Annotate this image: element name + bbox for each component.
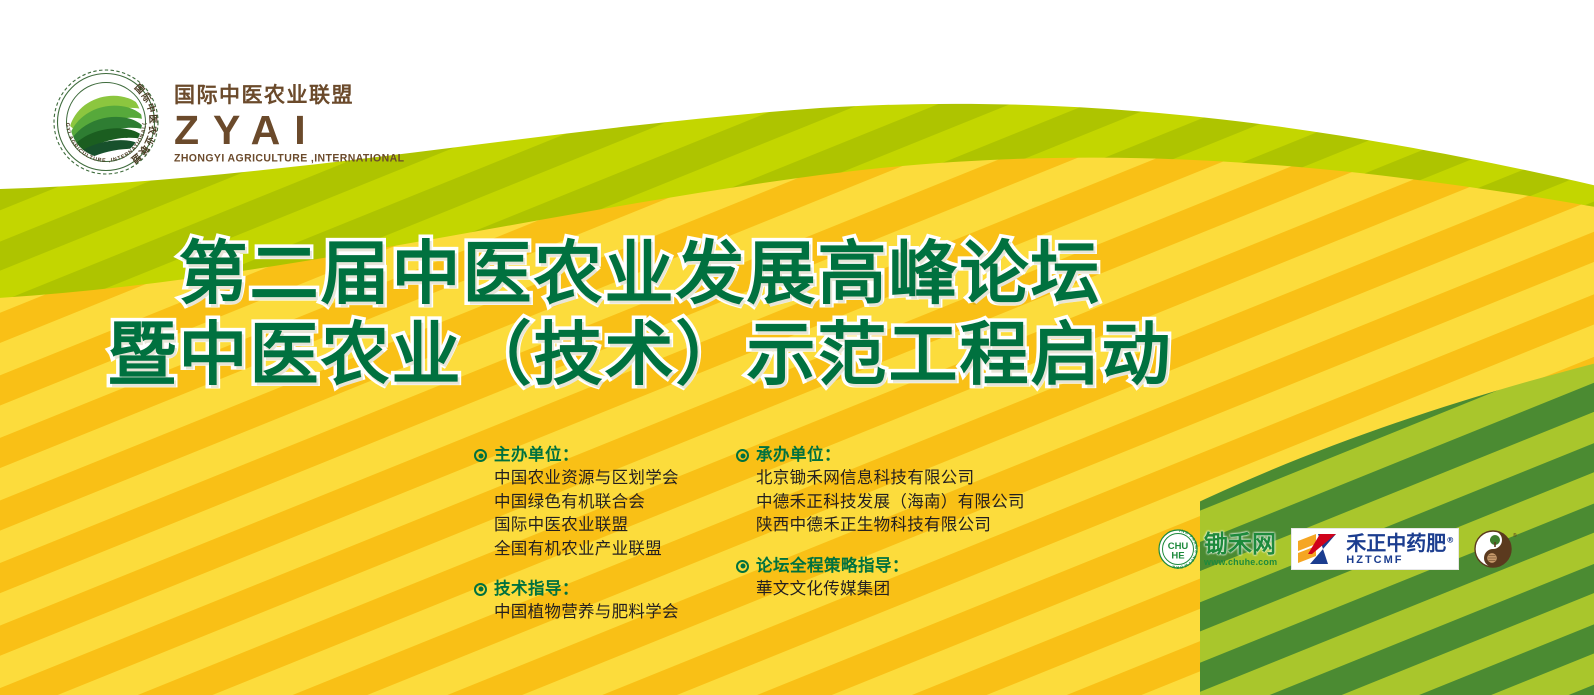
credit-group-header: 主办单位： xyxy=(474,444,736,466)
credit-item: 華文文化传媒集团 xyxy=(756,577,1056,600)
zyai-logo: 国际中医农业联盟 ZHONGYI AGRICULTURE ,INTERNATIO… xyxy=(52,68,404,176)
credit-group-items: 華文文化传媒集团 xyxy=(756,577,1056,600)
credit-group-strategic-guidance: 论坛全程策略指导： 華文文化传媒集团 xyxy=(736,555,1056,601)
bullseye-bullet-icon xyxy=(736,560,749,573)
credit-group-organizers: 主办单位： 中国农业资源与区划学会 中国绿色有机联合会 国际中医农业联盟 全国有… xyxy=(474,444,736,560)
credit-item: 中国植物营养与肥料学会 xyxy=(494,600,736,623)
sponsor-logo-yinyang-seal: ® xyxy=(1473,529,1517,569)
credit-group-title: 主办单位： xyxy=(494,444,579,466)
credit-group-technical-guidance: 技术指导： 中国植物营养与肥料学会 xyxy=(474,578,736,624)
credit-item: 陕西中德禾正生物科技有限公司 xyxy=(756,513,1056,536)
credit-item: 全国有机农业产业联盟 xyxy=(494,537,736,560)
hzt-name-en: HZTCMF xyxy=(1346,555,1454,566)
hzt-name-cn: 禾正中药肥® xyxy=(1346,533,1454,553)
credit-item: 中德禾正科技发展（海南）有限公司 xyxy=(756,490,1056,513)
credits-column-left: 主办单位： 中国农业资源与区划学会 中国绿色有机联合会 国际中医农业联盟 全国有… xyxy=(474,444,736,624)
credit-group-items: 中国植物营养与肥料学会 xyxy=(494,600,736,623)
credit-item: 中国绿色有机联合会 xyxy=(494,490,736,513)
sponsor-logo-row: CHINA FARMS NETWORK CHU HE 锄禾网 www.chuhe… xyxy=(1158,528,1517,570)
credit-group-items: 北京锄禾网信息科技有限公司 中德禾正科技发展（海南）有限公司 陕西中德禾正生物科… xyxy=(756,466,1056,536)
credits-block: 主办单位： 中国农业资源与区划学会 中国绿色有机联合会 国际中医农业联盟 全国有… xyxy=(474,444,1056,624)
logo-chinese-name: 国际中医农业联盟 xyxy=(174,85,404,106)
bullseye-bullet-icon xyxy=(736,449,749,462)
yinyang-tree-seal-icon: ® xyxy=(1473,529,1517,569)
logo-english-name: ZHONGYI AGRICULTURE ,INTERNATIONAL xyxy=(174,153,404,164)
poster-title: 第二届中医农业发展高峰论坛 暨中医农业（技术）示范工程启动 xyxy=(0,238,1280,393)
poster-canvas: 国际中医农业联盟 ZHONGYI AGRICULTURE ,INTERNATIO… xyxy=(0,0,1594,695)
credit-group-title: 技术指导： xyxy=(494,578,579,600)
credit-group-header: 论坛全程策略指导： xyxy=(736,555,1056,577)
credit-group-title: 论坛全程策略指导： xyxy=(756,555,909,577)
hzt-registered-mark: ® xyxy=(1446,535,1454,544)
hzt-z-stripe-icon xyxy=(1296,532,1342,566)
bullseye-bullet-icon xyxy=(474,583,487,596)
zyai-emblem-icon: 国际中医农业联盟 ZHONGYI AGRICULTURE ,INTERNATIO… xyxy=(52,68,160,176)
credit-group-title: 承办单位： xyxy=(756,444,841,466)
credit-item: 北京锄禾网信息科技有限公司 xyxy=(756,466,1056,489)
logo-acronym: ZYAI xyxy=(174,110,404,151)
poster-title-line-2: 暨中医农业（技术）示范工程启动 xyxy=(0,319,1280,393)
credit-group-header: 技术指导： xyxy=(474,578,736,600)
credit-group-items: 中国农业资源与区划学会 中国绿色有机联合会 国际中医农业联盟 全国有机农业产业联… xyxy=(494,466,736,560)
credit-item: 中国农业资源与区划学会 xyxy=(494,466,736,489)
sponsor-logo-hezheng: 禾正中药肥® HZTCMF xyxy=(1291,528,1459,570)
chuhe-round-seal-icon: CHINA FARMS NETWORK CHU HE xyxy=(1158,529,1198,569)
chuhe-website-url: www.chuhe.com xyxy=(1204,558,1277,567)
credit-group-co-organizers: 承办单位： 北京锄禾网信息科技有限公司 中德禾正科技发展（海南）有限公司 陕西中… xyxy=(736,444,1056,537)
credit-item: 国际中医农业联盟 xyxy=(494,513,736,536)
bullseye-bullet-icon xyxy=(474,449,487,462)
svg-text:HE: HE xyxy=(1171,551,1184,562)
credit-group-header: 承办单位： xyxy=(736,444,1056,466)
hzt-name-cn-text: 禾正中药肥 xyxy=(1346,531,1446,555)
chuhe-name-cn: 锄禾网 xyxy=(1204,532,1277,556)
credits-column-right: 承办单位： 北京锄禾网信息科技有限公司 中德禾正科技发展（海南）有限公司 陕西中… xyxy=(736,444,1056,624)
sponsor-logo-chuhe: CHINA FARMS NETWORK CHU HE 锄禾网 www.chuhe… xyxy=(1158,529,1277,569)
poster-title-line-1: 第二届中医农业发展高峰论坛 xyxy=(0,238,1280,312)
yinyang-registered-mark: ® xyxy=(1513,532,1517,539)
